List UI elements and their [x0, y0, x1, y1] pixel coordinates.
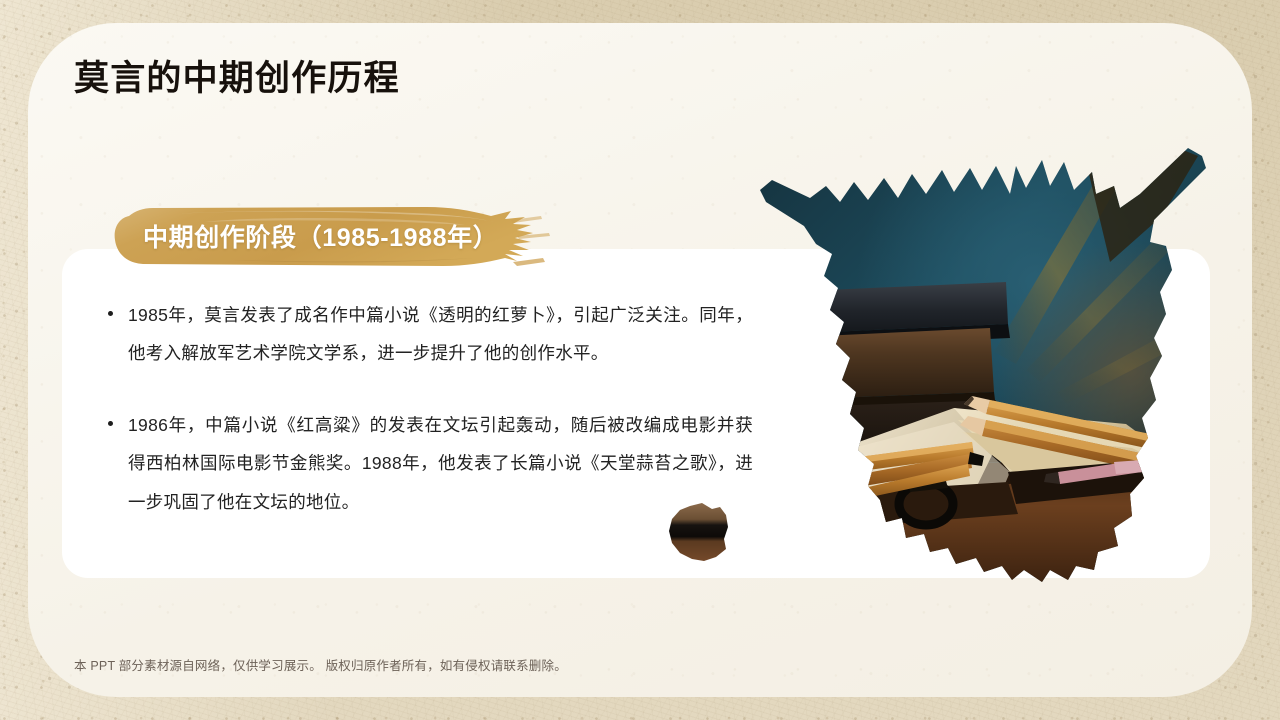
stage-badge: 中期创作阶段（1985-1988年） — [113, 200, 565, 272]
page-title: 莫言的中期创作历程 — [74, 58, 400, 100]
list-item: 1985年，莫言发表了成名作中篇小说《透明的红萝卜》，引起广泛关注。同年，他考入… — [108, 296, 753, 372]
bullet-list: 1985年，莫言发表了成名作中篇小说《透明的红萝卜》，引起广泛关注。同年，他考入… — [108, 296, 753, 521]
slide-root: 莫言的中期创作历程 — [0, 0, 1280, 720]
stage-badge-label: 中期创作阶段（1985-1988年） — [143, 200, 498, 272]
bullet-text: 1986年，中篇小说《红高粱》的发表在文坛引起轰动，随后被改编成电影并获得西柏林… — [128, 406, 753, 520]
footer-disclaimer: 本 PPT 部分素材源自网络，仅供学习展示。 版权归原作者所有，如有侵权请联系删… — [74, 655, 567, 674]
bullet-text: 1985年，莫言发表了成名作中篇小说《透明的红萝卜》，引起广泛关注。同年，他考入… — [128, 296, 753, 372]
splatter-photo — [758, 142, 1208, 584]
bullet-dot-icon — [108, 311, 113, 316]
bullet-dot-icon — [108, 421, 113, 426]
list-item: 1986年，中篇小说《红高粱》的发表在文坛引起轰动，随后被改编成电影并获得西柏林… — [108, 406, 753, 520]
